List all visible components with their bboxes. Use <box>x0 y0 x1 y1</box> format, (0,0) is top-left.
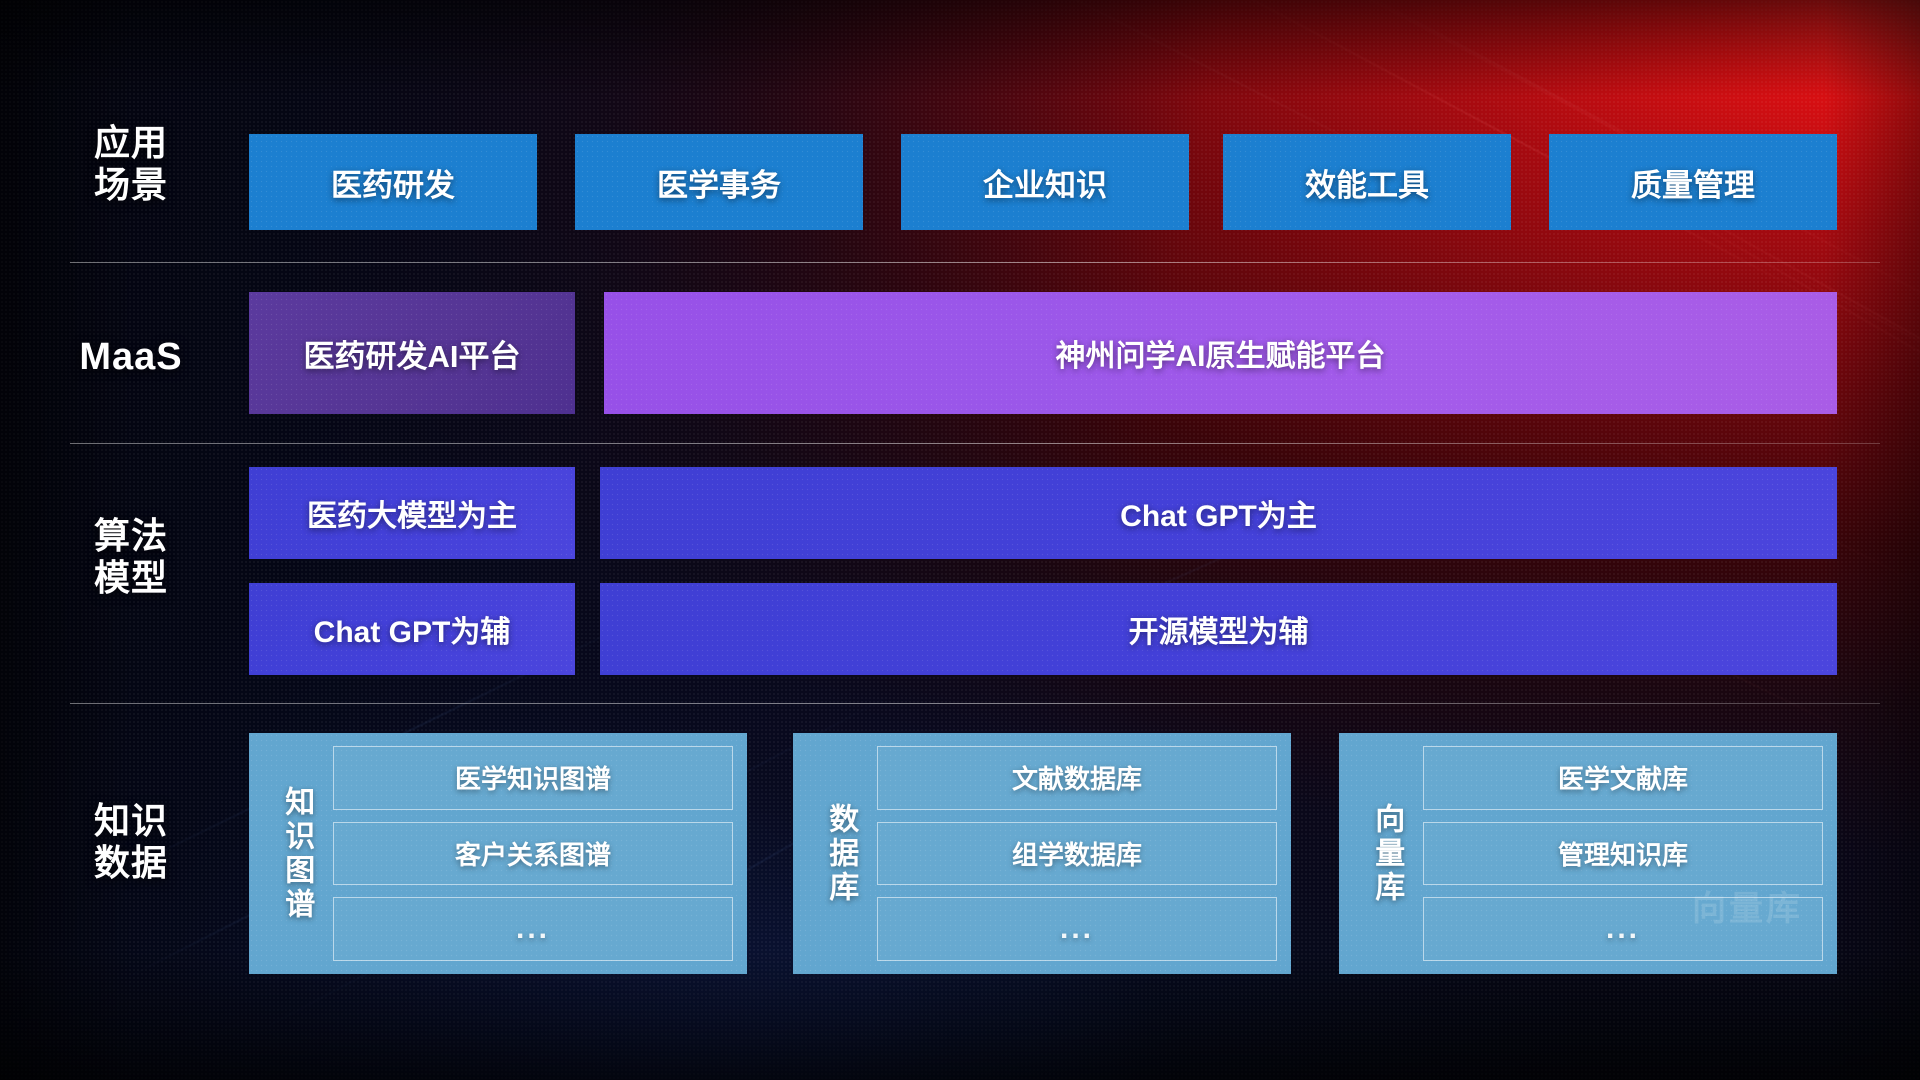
row-divider-2 <box>70 443 1880 444</box>
architecture-diagram: 应用 场景 医药研发 医学事务 企业知识 效能工具 质量管理 MaaS 医药研发… <box>0 0 1920 1080</box>
knowledge-item-more[interactable]: ... <box>1423 897 1823 961</box>
scene-card-5[interactable]: 质量管理 <box>1549 134 1837 230</box>
algo-card-left-1-label: 医药大模型为主 <box>307 491 517 535</box>
knowledge-item[interactable]: 医学知识图谱 <box>333 746 733 810</box>
knowledge-item[interactable]: 组学数据库 <box>877 822 1277 886</box>
row-label-knowledge: 知识 数据 <box>70 800 192 884</box>
algo-card-left-1[interactable]: 医药大模型为主 <box>249 467 575 559</box>
row-divider-1 <box>70 262 1880 263</box>
algo-card-right-2-label: 开源模型为辅 <box>1129 607 1309 651</box>
knowledge-item[interactable]: 文献数据库 <box>877 746 1277 810</box>
algo-card-right-1-label: Chat GPT为主 <box>1120 491 1317 535</box>
knowledge-panel-vector[interactable]: 向量库 医学文献库 管理知识库 ... 向量库 <box>1339 733 1837 974</box>
knowledge-item[interactable]: 医学文献库 <box>1423 746 1823 810</box>
scene-card-1[interactable]: 医药研发 <box>249 134 537 230</box>
knowledge-panel-database[interactable]: 数据库 文献数据库 组学数据库 ... <box>793 733 1291 974</box>
scene-card-1-label: 医药研发 <box>331 160 455 205</box>
knowledge-panel-database-title: 数据库 <box>803 746 877 961</box>
knowledge-item[interactable]: 客户关系图谱 <box>333 822 733 886</box>
maas-card-shenzhou-platform[interactable]: 神州问学AI原生赋能平台 <box>604 292 1837 414</box>
knowledge-panel-vector-items: 医学文献库 管理知识库 ... <box>1423 746 1823 961</box>
knowledge-panel-graph[interactable]: 知识图谱 医学知识图谱 客户关系图谱 ... <box>249 733 747 974</box>
knowledge-item-more[interactable]: ... <box>877 897 1277 961</box>
scene-card-2-label: 医学事务 <box>657 160 781 205</box>
scene-card-2[interactable]: 医学事务 <box>575 134 863 230</box>
algo-card-right-2[interactable]: 开源模型为辅 <box>600 583 1837 675</box>
slide-canvas: 应用 场景 医药研发 医学事务 企业知识 效能工具 质量管理 MaaS 医药研发… <box>0 0 1920 1080</box>
scene-card-4[interactable]: 效能工具 <box>1223 134 1511 230</box>
knowledge-item[interactable]: 管理知识库 <box>1423 822 1823 886</box>
row-label-maas: MaaS <box>70 335 192 379</box>
knowledge-panel-vector-title: 向量库 <box>1349 746 1423 961</box>
scene-card-3-label: 企业知识 <box>983 160 1107 205</box>
row-label-scene: 应用 场景 <box>70 122 192 206</box>
scene-card-4-label: 效能工具 <box>1305 160 1429 205</box>
row-label-algorithm: 算法 模型 <box>70 515 192 599</box>
maas-card-drug-ai-platform[interactable]: 医药研发AI平台 <box>249 292 575 414</box>
knowledge-panel-graph-title: 知识图谱 <box>259 746 333 961</box>
maas-card-drug-ai-platform-label: 医药研发AI平台 <box>304 331 521 376</box>
knowledge-panel-database-items: 文献数据库 组学数据库 ... <box>877 746 1277 961</box>
row-divider-3 <box>70 703 1880 704</box>
scene-card-5-label: 质量管理 <box>1631 160 1755 205</box>
maas-card-shenzhou-platform-label: 神州问学AI原生赋能平台 <box>1056 331 1386 375</box>
algo-card-right-1[interactable]: Chat GPT为主 <box>600 467 1837 559</box>
algo-card-left-2-label: Chat GPT为辅 <box>314 607 511 651</box>
scene-card-3[interactable]: 企业知识 <box>901 134 1189 230</box>
knowledge-panel-graph-items: 医学知识图谱 客户关系图谱 ... <box>333 746 733 961</box>
knowledge-item-more[interactable]: ... <box>333 897 733 961</box>
algo-card-left-2[interactable]: Chat GPT为辅 <box>249 583 575 675</box>
